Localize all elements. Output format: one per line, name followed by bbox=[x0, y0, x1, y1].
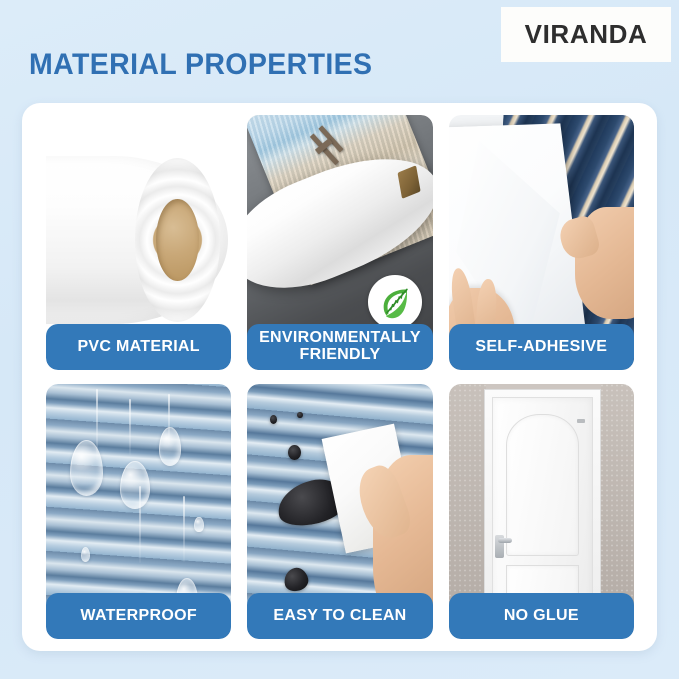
roll-core-shape bbox=[156, 199, 199, 281]
water-droplet bbox=[120, 461, 150, 509]
water-droplet bbox=[159, 427, 181, 465]
feature-label-pvc-material: PVC MATERIAL bbox=[46, 324, 231, 370]
right-hand-shape bbox=[575, 207, 634, 319]
door-hinge-shape bbox=[577, 419, 585, 424]
droplet-trail bbox=[129, 399, 131, 455]
feature-tile-environmentally-friendly[interactable]: ENVIRONMENTALLY FRIENDLY bbox=[247, 115, 432, 370]
green-leaf-eco-icon bbox=[368, 275, 422, 329]
ink-dot-stain bbox=[270, 415, 277, 424]
ink-dot-stain bbox=[288, 445, 301, 460]
door-top-panel-shape bbox=[506, 414, 579, 556]
brand-name: VIRANDA bbox=[525, 19, 648, 50]
features-grid: PVC MATERIAL bbox=[46, 115, 634, 639]
feature-label-waterproof: WATERPROOF bbox=[46, 593, 231, 639]
ink-dot-stain bbox=[282, 565, 311, 593]
feature-tile-waterproof[interactable]: WATERPROOF bbox=[46, 384, 231, 639]
feature-label-easy-to-clean: EASY TO CLEAN bbox=[247, 593, 432, 639]
water-droplet bbox=[194, 517, 203, 532]
door-handle-shape bbox=[495, 535, 504, 558]
feature-tile-pvc-material[interactable]: PVC MATERIAL bbox=[46, 115, 231, 370]
wall-left-shape bbox=[449, 384, 486, 619]
droplet-trail bbox=[183, 496, 185, 562]
features-card: PVC MATERIAL bbox=[22, 103, 657, 651]
feature-label-self-adhesive: SELF-ADHESIVE bbox=[449, 324, 634, 370]
feature-tile-easy-to-clean[interactable]: EASY TO CLEAN bbox=[247, 384, 432, 639]
page-title: MATERIAL PROPERTIES bbox=[29, 48, 372, 82]
feature-tile-self-adhesive[interactable]: SELF-ADHESIVE bbox=[449, 115, 634, 370]
water-droplet bbox=[70, 440, 103, 496]
wall-right-shape bbox=[601, 384, 634, 619]
brand-badge: VIRANDA bbox=[501, 7, 671, 62]
feature-tile-no-glue[interactable]: NO GLUE bbox=[449, 384, 634, 639]
water-droplet bbox=[81, 547, 90, 562]
feature-label-no-glue: NO GLUE bbox=[449, 593, 634, 639]
header: MATERIAL PROPERTIES VIRANDA bbox=[0, 0, 679, 103]
ink-dot-stain bbox=[297, 412, 303, 418]
feature-label-environmentally-friendly: ENVIRONMENTALLY FRIENDLY bbox=[247, 324, 432, 370]
